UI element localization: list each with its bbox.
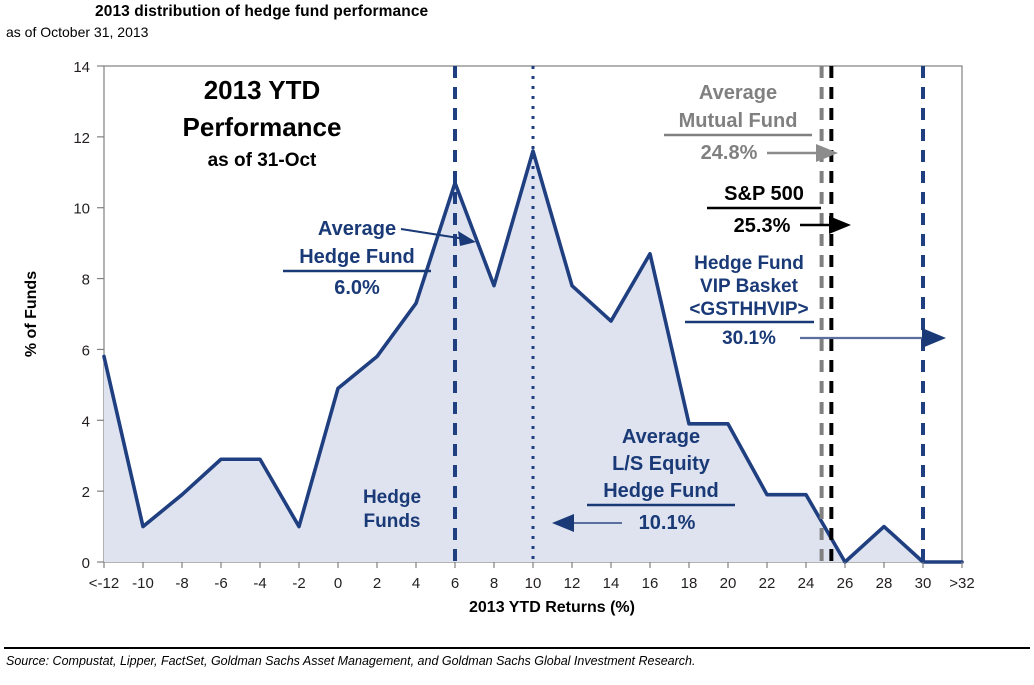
y-tick-label: 6 — [82, 342, 90, 359]
y-axis-title: % of Funds — [23, 271, 40, 357]
vip-line-1: Hedge Fund — [694, 253, 804, 274]
x-tick-label: 20 — [720, 575, 737, 592]
callout-line-1: 2013 YTD — [204, 75, 321, 105]
x-tick-label: 6 — [451, 575, 459, 592]
x-tick-label: 14 — [603, 575, 620, 592]
x-tick-label: -6 — [214, 575, 227, 592]
avg-ls-line-3: Hedge Fund — [603, 480, 719, 502]
avg-mf-value: 24.8% — [701, 142, 758, 164]
y-tick-label: 0 — [82, 555, 90, 572]
x-tick-label: 24 — [798, 575, 815, 592]
chart-figure: 02468101214 <-12-10-8-6-4-20246810121416… — [0, 44, 1034, 634]
x-tick-label: 30 — [915, 575, 932, 592]
x-axis-title: 2013 YTD Returns (%) — [469, 599, 635, 616]
x-tick-label: 2 — [373, 575, 381, 592]
distribution-chart: 02468101214 <-12-10-8-6-4-20246810121416… — [0, 44, 1034, 634]
avg-ls-line-2: L/S Equity — [612, 453, 711, 475]
y-tick-label: 10 — [73, 201, 90, 218]
x-tick-label: 28 — [876, 575, 893, 592]
x-tick-label: 12 — [564, 575, 581, 592]
x-tick-label: 16 — [642, 575, 659, 592]
y-tick-label: 14 — [73, 59, 90, 76]
avg-hf-line-1: Average — [318, 218, 396, 240]
x-tick-label: -10 — [132, 575, 154, 592]
x-tick-label: <-12 — [89, 575, 119, 592]
x-tick-label: 18 — [681, 575, 698, 592]
x-tick-label: 26 — [837, 575, 854, 592]
callout-line-2: Performance — [183, 112, 342, 142]
x-tick-label: >32 — [949, 575, 974, 592]
y-tick-label: 2 — [82, 484, 90, 501]
page-subtitle: as of October 31, 2013 — [6, 24, 148, 40]
x-tick-label: 0 — [334, 575, 342, 592]
page-title: 2013 distribution of hedge fund performa… — [95, 3, 428, 21]
avg-mf-line-2: Mutual Fund — [679, 110, 798, 132]
avg-ls-line-1: Average — [622, 426, 700, 448]
sp500-line-1: S&P 500 — [724, 183, 804, 205]
x-axis: <-12-10-8-6-4-20246810121416182022242628… — [89, 562, 975, 592]
series-label-line-1: Hedge — [363, 487, 421, 508]
y-tick-label: 4 — [82, 413, 90, 430]
x-tick-label: -2 — [292, 575, 305, 592]
avg-mf-line-1: Average — [699, 82, 777, 104]
avg-hf-value: 6.0% — [334, 277, 380, 299]
y-tick-label: 12 — [73, 130, 90, 147]
vip-line-3: <GSTHHVIP> — [689, 299, 808, 320]
vip-line-2: VIP Basket — [700, 276, 799, 297]
x-tick-label: 10 — [525, 575, 542, 592]
source-divider — [4, 647, 1030, 649]
vip-value: 30.1% — [722, 328, 776, 349]
avg-hf-line-2: Hedge Fund — [299, 246, 415, 268]
x-tick-label: 22 — [759, 575, 776, 592]
sp500-value: 25.3% — [734, 215, 791, 237]
x-tick-label: 8 — [490, 575, 498, 592]
callout-line-3: as of 31-Oct — [208, 150, 317, 171]
x-tick-label: 4 — [412, 575, 420, 592]
source-note: Source: Compustat, Lipper, FactSet, Gold… — [6, 654, 695, 668]
x-tick-label: -4 — [253, 575, 266, 592]
y-axis: 02468101214 — [73, 59, 104, 572]
series-label-line-2: Funds — [364, 511, 421, 532]
y-tick-label: 8 — [82, 272, 90, 289]
avg-ls-value: 10.1% — [639, 512, 696, 534]
x-tick-label: -8 — [175, 575, 188, 592]
